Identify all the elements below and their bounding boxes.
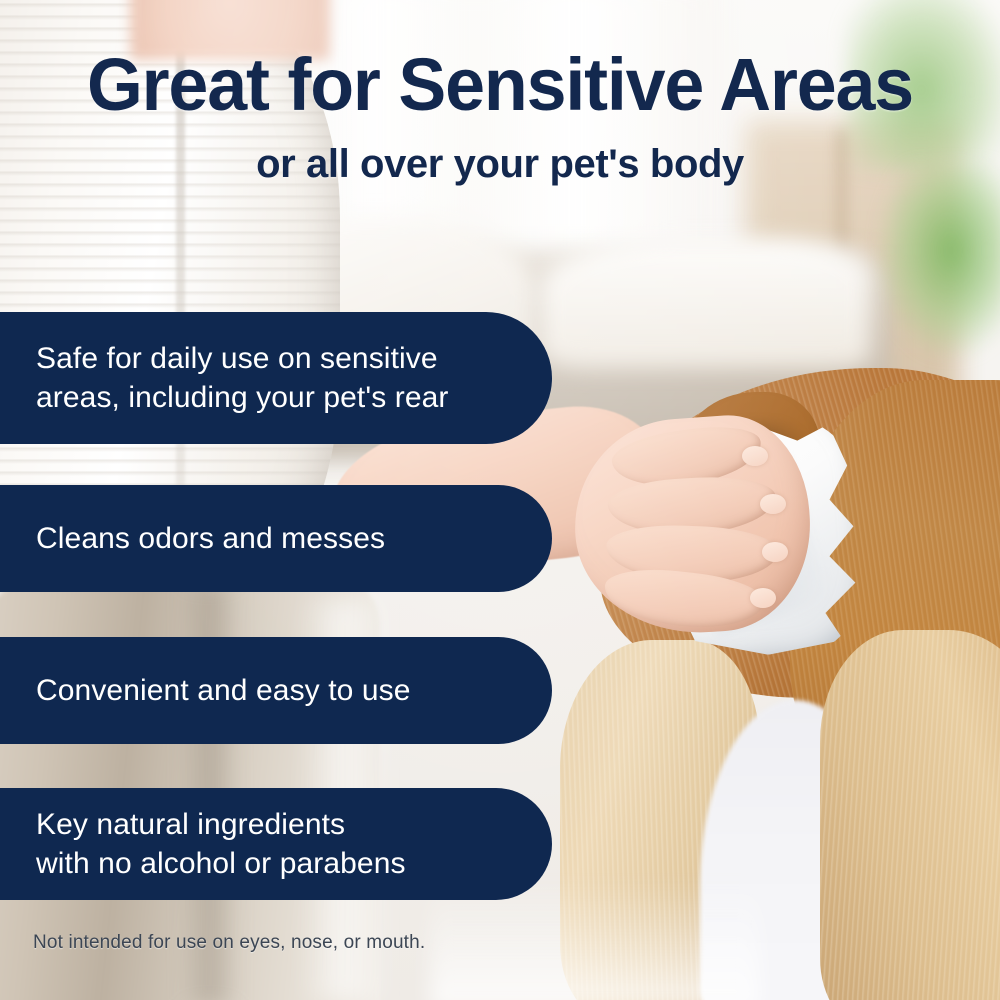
feature-list: Safe for daily use on sensitive areas, i…: [0, 0, 1000, 1000]
feature-label: Key natural ingredients with no alcohol …: [0, 805, 476, 883]
feature-bar-natural-ingredients: Key natural ingredients with no alcohol …: [0, 788, 552, 900]
feature-bar-cleans-odors: Cleans odors and messes: [0, 485, 552, 592]
feature-bar-sensitive-areas: Safe for daily use on sensitive areas, i…: [0, 312, 552, 444]
disclaimer-text: Not intended for use on eyes, nose, or m…: [33, 932, 425, 954]
feature-label: Safe for daily use on sensitive areas, i…: [0, 339, 518, 417]
feature-label: Convenient and easy to use: [0, 671, 481, 710]
feature-label: Cleans odors and messes: [0, 519, 455, 558]
feature-bar-convenient: Convenient and easy to use: [0, 637, 552, 744]
promo-poster: Great for Sensitive Areas or all over yo…: [0, 0, 1000, 1000]
